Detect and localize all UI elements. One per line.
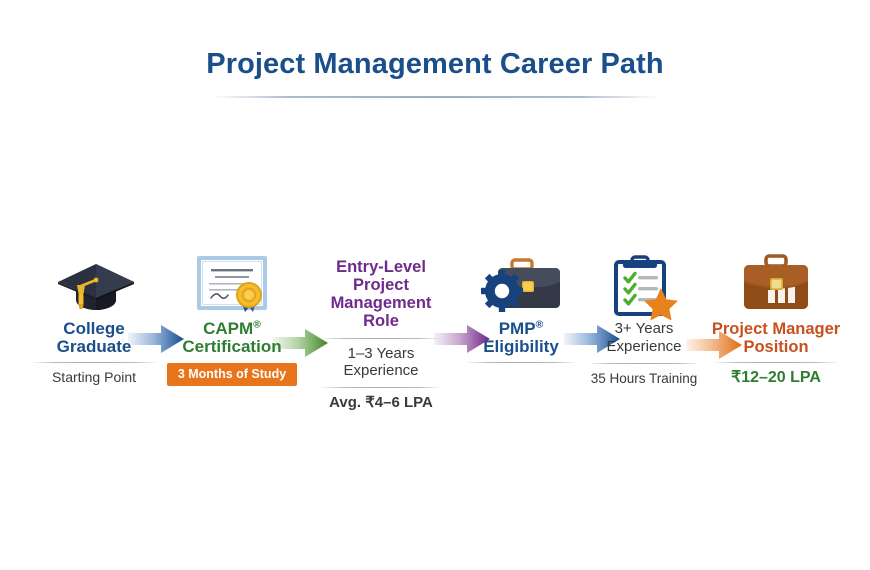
career-path-flow: College Graduate Starting Point (0, 242, 870, 412)
certificate-icon (166, 242, 298, 320)
flow-step-divider (29, 362, 159, 363)
flow-step-label-line1: 3+ Years (586, 320, 702, 338)
capm-text: CAPM (203, 319, 253, 338)
flow-step-label: 3+ Years Experience (586, 320, 702, 356)
page-title: Project Management Career Path (0, 46, 870, 82)
flow-step-divider-lower (319, 387, 443, 388)
flow-step-salary: ₹12–20 LPA (706, 369, 846, 386)
flow-step-label: Project Manager Position (706, 320, 846, 356)
flow-step-divider (465, 362, 577, 363)
registered-mark: ® (536, 318, 544, 330)
flow-step-subtext: Starting Point (26, 369, 162, 386)
flow-step-label: PMP® Eligibility (462, 320, 580, 356)
flow-step-project-manager-position[interactable]: Project Manager Position ₹12–20 LPA (706, 242, 846, 386)
flow-step-capm-certification[interactable]: CAPM® Certification 3 Months of Study (166, 242, 298, 386)
study-duration-badge: 3 Months of Study (167, 363, 297, 386)
flow-step-divider (712, 362, 840, 363)
flow-step-label-line2: Position (706, 338, 846, 356)
flow-step-label-line2: Project Management (302, 276, 460, 312)
briefcase-chart-icon (706, 242, 846, 320)
page-header: Project Management Career Path (0, 46, 870, 98)
title-divider (211, 96, 659, 98)
flow-step-experience-line2: Experience (302, 362, 460, 379)
pmp-text: PMP (499, 319, 536, 338)
flow-step-salary: Avg. ₹4–6 LPA (302, 394, 460, 411)
flow-step-label-line1: Entry-Level (302, 258, 460, 276)
flow-step-label-line2: Eligibility (462, 338, 580, 356)
flow-step-pmp-eligibility[interactable]: PMP® Eligibility (462, 242, 580, 369)
flow-step-training-hours: 35 Hours Training (586, 370, 702, 387)
flow-step-label-line1: Project Manager (706, 320, 846, 338)
clipboard-star-icon (586, 242, 702, 320)
graduation-cap-icon (26, 242, 162, 320)
flow-step-label: Entry-Level Project Management Role (302, 258, 460, 330)
registered-mark: ® (253, 318, 261, 330)
flow-step-experience-training[interactable]: 3+ Years Experience 35 Hours Training (586, 242, 702, 387)
flow-step-divider-upper (319, 338, 443, 339)
flow-step-label-line2: Experience (586, 338, 702, 356)
briefcase-gear-icon (462, 242, 580, 320)
flow-step-divider (588, 363, 700, 364)
flow-step-label-line1: PMP® (462, 320, 580, 338)
flow-step-college-graduate[interactable]: College Graduate Starting Point (26, 242, 162, 386)
